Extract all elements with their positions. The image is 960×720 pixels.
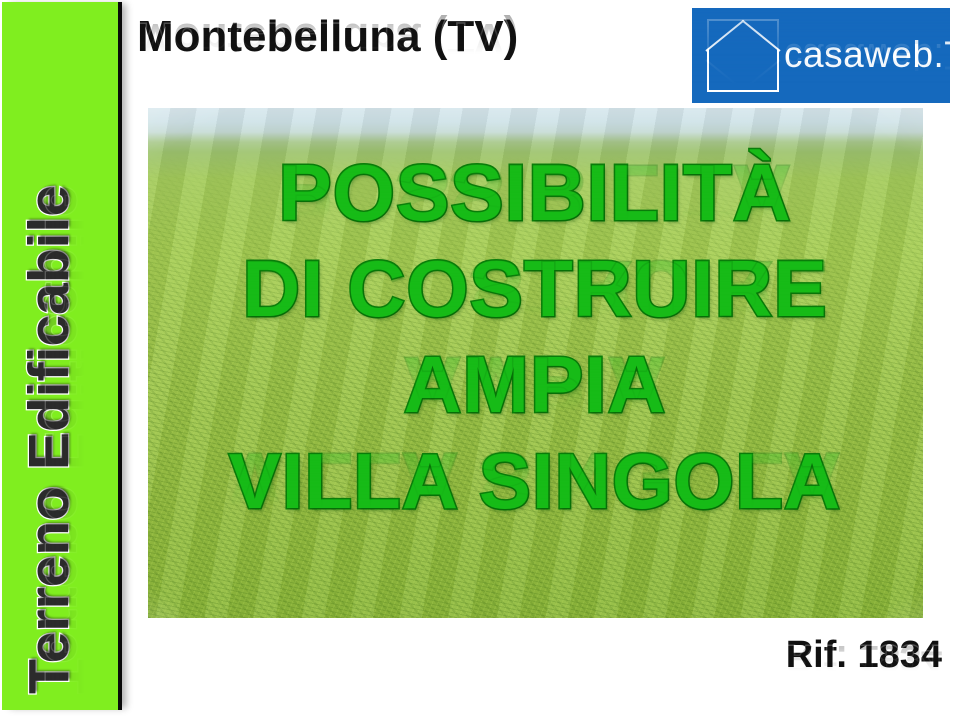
property-listing-slide: Terreno Edificabile Terreno Edificabile … (0, 0, 960, 720)
brand-logo-reflection: casaweb.TV (692, 8, 950, 103)
headline-line-2-reflection: DI COSTRUIRE (150, 248, 920, 330)
headline-line: AMPIA AMPIA (150, 344, 920, 440)
brand-logo-reflection-inner: casaweb.TV (692, 8, 950, 103)
sidebar-category-label-reflection: Terreno Edificabile (32, 185, 98, 694)
headline-line: VILLA SINGOLA VILLA SINGOLA (150, 440, 920, 536)
brand-logo-text-reflection: casaweb.TV (784, 35, 960, 77)
headline-line-3-reflection: AMPIA (150, 344, 920, 426)
page-title-reflection: Montebelluna (TV) (137, 15, 518, 61)
sidebar-text-wrapper: Terreno Edificabile Terreno Edificabile (2, 2, 118, 710)
headline-block: POSSIBILITÀ POSSIBILITÀ DI COSTRUIRE DI … (150, 152, 920, 536)
reference-code-reflection: Rif. 1834 (786, 637, 942, 677)
sidebar-category-banner: Terreno Edificabile Terreno Edificabile (2, 2, 122, 710)
headline-line-4-reflection: VILLA SINGOLA (150, 440, 920, 522)
house-outline-icon-reflection (704, 17, 782, 93)
location-title-block: Montebelluna (TV) Montebelluna (TV) (137, 14, 697, 114)
reference-code-block: Rif. 1834 Rif. 1834 (700, 636, 950, 716)
headline-line: DI COSTRUIRE DI COSTRUIRE (150, 248, 920, 344)
brand-logo-block[interactable]: casaweb.TV casaweb.TV (692, 8, 950, 168)
